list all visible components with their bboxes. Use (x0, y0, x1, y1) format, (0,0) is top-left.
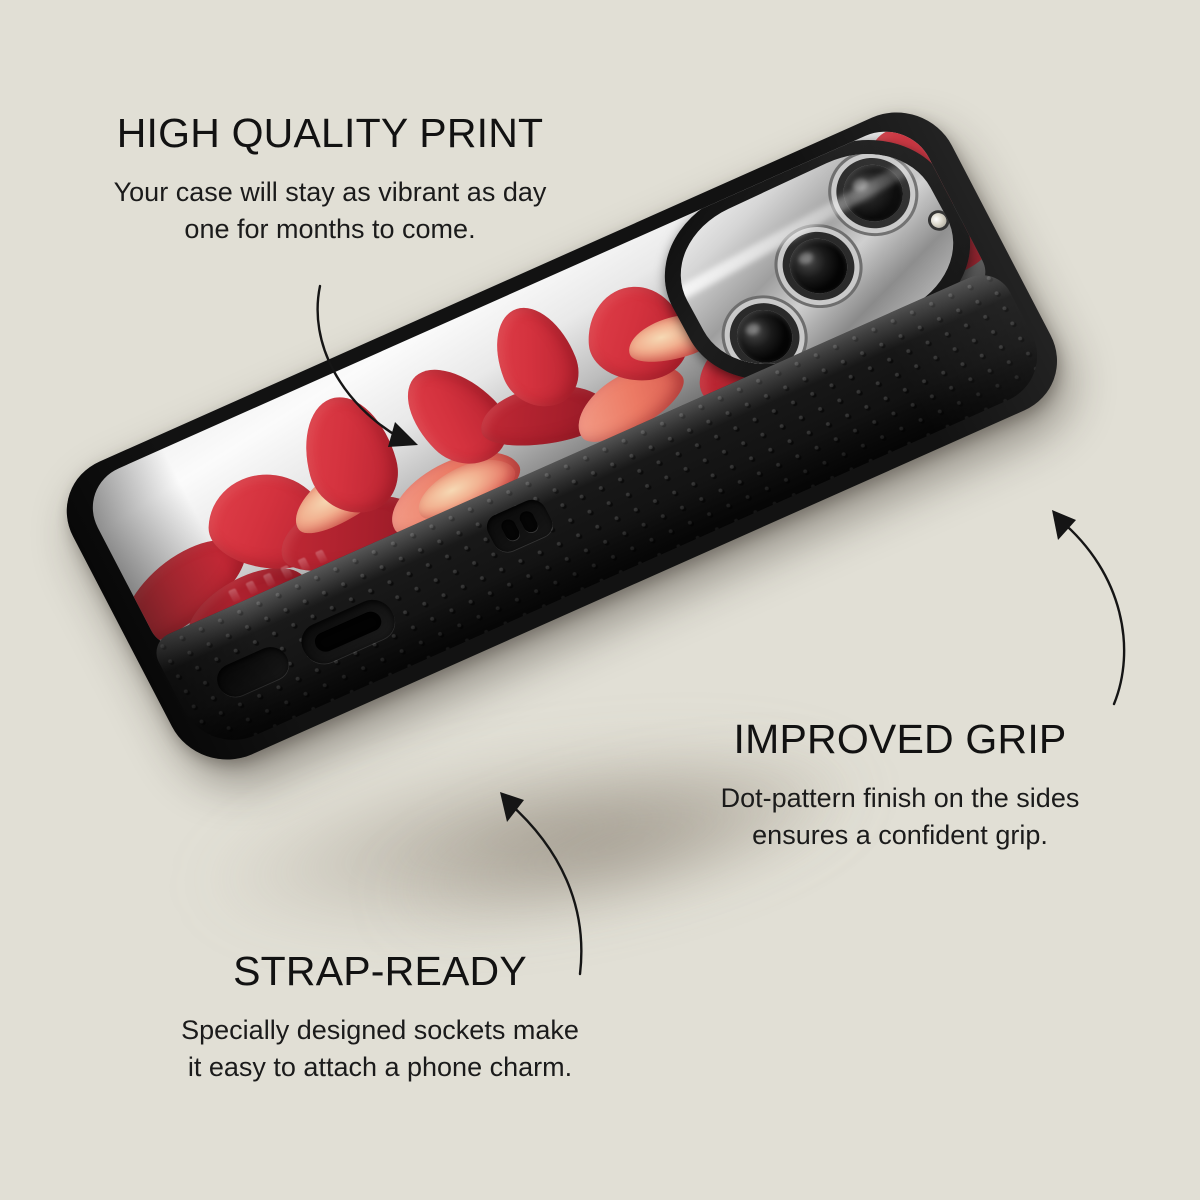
feature-high-quality-print: HIGH QUALITY PRINT Your case will stay a… (0, 112, 660, 247)
camera-lens-3 (833, 155, 913, 231)
feature-body: Your case will stay as vibrant as day on… (0, 174, 660, 247)
camera-lens-2 (780, 230, 858, 303)
product-showcase-canvas: HIGH QUALITY PRINT Your case will stay a… (0, 0, 1200, 1200)
feature-body: Specially designed sockets make it easy … (60, 1012, 700, 1085)
feature-body: Dot-pattern finish on the sides ensures … (620, 780, 1180, 853)
strap-socket-slot (517, 509, 540, 534)
feature-heading: IMPROVED GRIP (620, 718, 1180, 761)
feature-improved-grip: IMPROVED GRIP Dot-pattern finish on the … (620, 718, 1180, 853)
feature-strap-ready: STRAP-READY Specially designed sockets m… (60, 950, 700, 1085)
feature-heading: STRAP-READY (60, 950, 700, 993)
strap-socket-slot (499, 517, 522, 542)
feature-heading: HIGH QUALITY PRINT (0, 112, 660, 155)
